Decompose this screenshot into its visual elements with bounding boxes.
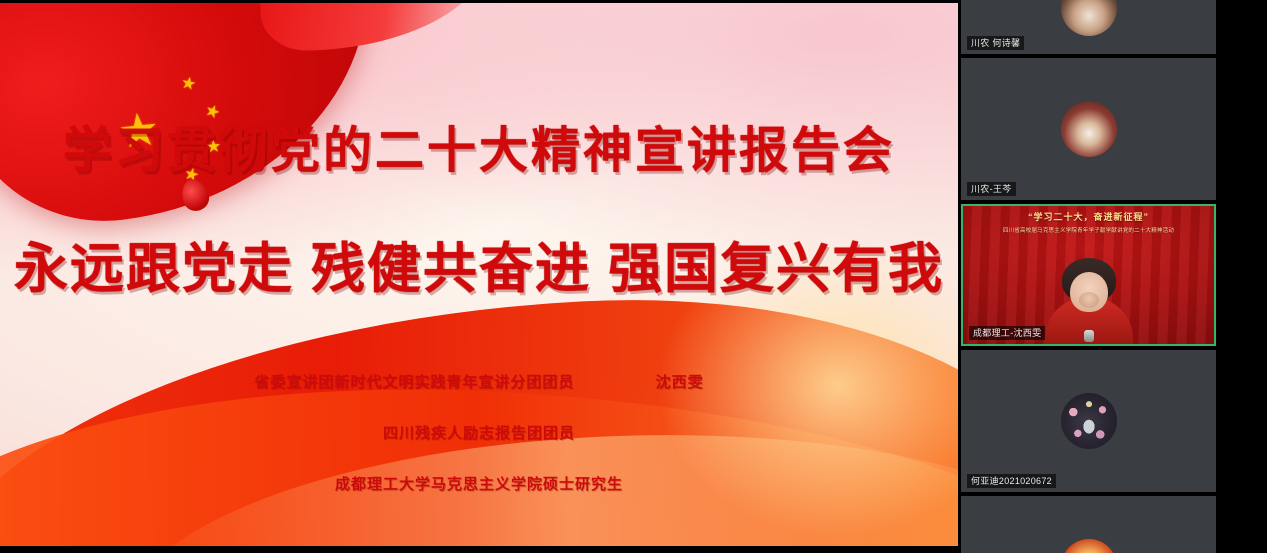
zoom-meeting-window: ★ ★ ★ ★ ★ 学习贯彻党的二十大精神宣讲报告会 永远跟党走 残健共奋进 强… [0,0,1267,553]
speaker-figure [1043,258,1135,344]
shared-screen-stage[interactable]: ★ ★ ★ ★ ★ 学习贯彻党的二十大精神宣讲报告会 永远跟党走 残健共奋进 强… [0,0,960,553]
avatar [1061,393,1117,449]
slide-credits: 省委宣讲团新时代文明实践青年宣讲分团团员 沈西雯 四川残疾人励志报告团团员 成都… [0,371,958,494]
participant-name-label: 成都理工-沈西雯 [969,326,1045,340]
participant-tile-4-content [961,350,1216,492]
speaker-hand [1079,292,1099,308]
banner-subline: 四川省高校届马克思主义学院青年学子献学献讲党的二十大精神活动 [973,225,1204,233]
avatar [1061,101,1117,157]
participant-tile-2[interactable]: 川农-王芩 [961,58,1216,200]
credit-line-2: 四川残疾人励志报告团团员 [0,422,958,443]
presentation-slide: ★ ★ ★ ★ ★ 学习贯彻党的二十大精神宣讲报告会 永远跟党走 残健共奋进 强… [0,3,958,546]
avatar [1061,539,1117,553]
participant-tile-5-content [961,496,1216,553]
participant-tile-5[interactable] [961,496,1216,553]
slide-title-line-2: 永远跟党走 残健共奋进 强国复兴有我 [0,224,958,303]
credit-line-3: 成都理工大学马克思主义学院硕士研究生 [0,473,958,494]
credit-role-1: 省委宣讲团新时代文明实践青年宣讲分团团员 [254,374,574,391]
credit-speaker-name: 沈西雯 [656,374,704,391]
credit-line-1: 省委宣讲团新时代文明实践青年宣讲分团团员 沈西雯 [0,371,958,392]
video-backdrop-banner: “学习二十大，奋进新征程” 四川省高校届马克思主义学院青年学子献学献讲党的二十大… [963,210,1214,234]
participant-tile-1[interactable]: 川农 何诗馨 [961,0,1216,54]
participant-tile-4[interactable]: 何亚迪2021020672 [961,350,1216,492]
slide-title-line-1: 学习贯彻党的二十大精神宣讲报告会 [0,111,958,182]
slide-headings: 学习贯彻党的二十大精神宣讲报告会 永远跟党走 残健共奋进 强国复兴有我 [0,111,958,303]
participant-name-label: 何亚迪2021020672 [967,474,1056,488]
participant-name-label: 川农 何诗馨 [967,36,1024,50]
participant-tile-2-content [961,58,1216,200]
microphone-icon [1084,330,1094,342]
banner-headline: “学习二十大，奋进新征程” [963,210,1214,223]
participant-filmstrip[interactable]: 川农 何诗馨 川农-王芩 “学习二十大，奋进新征程” 四川省高校届马克思主义学院… [960,0,1267,553]
speaker-video-feed: “学习二十大，奋进新征程” 四川省高校届马克思主义学院青年学子献学献讲党的二十大… [963,206,1214,344]
participant-tile-active-speaker[interactable]: “学习二十大，奋进新征程” 四川省高校届马克思主义学院青年学子献学献讲党的二十大… [961,204,1216,346]
avatar [1061,0,1117,36]
participant-name-label: 川农-王芩 [967,182,1016,196]
